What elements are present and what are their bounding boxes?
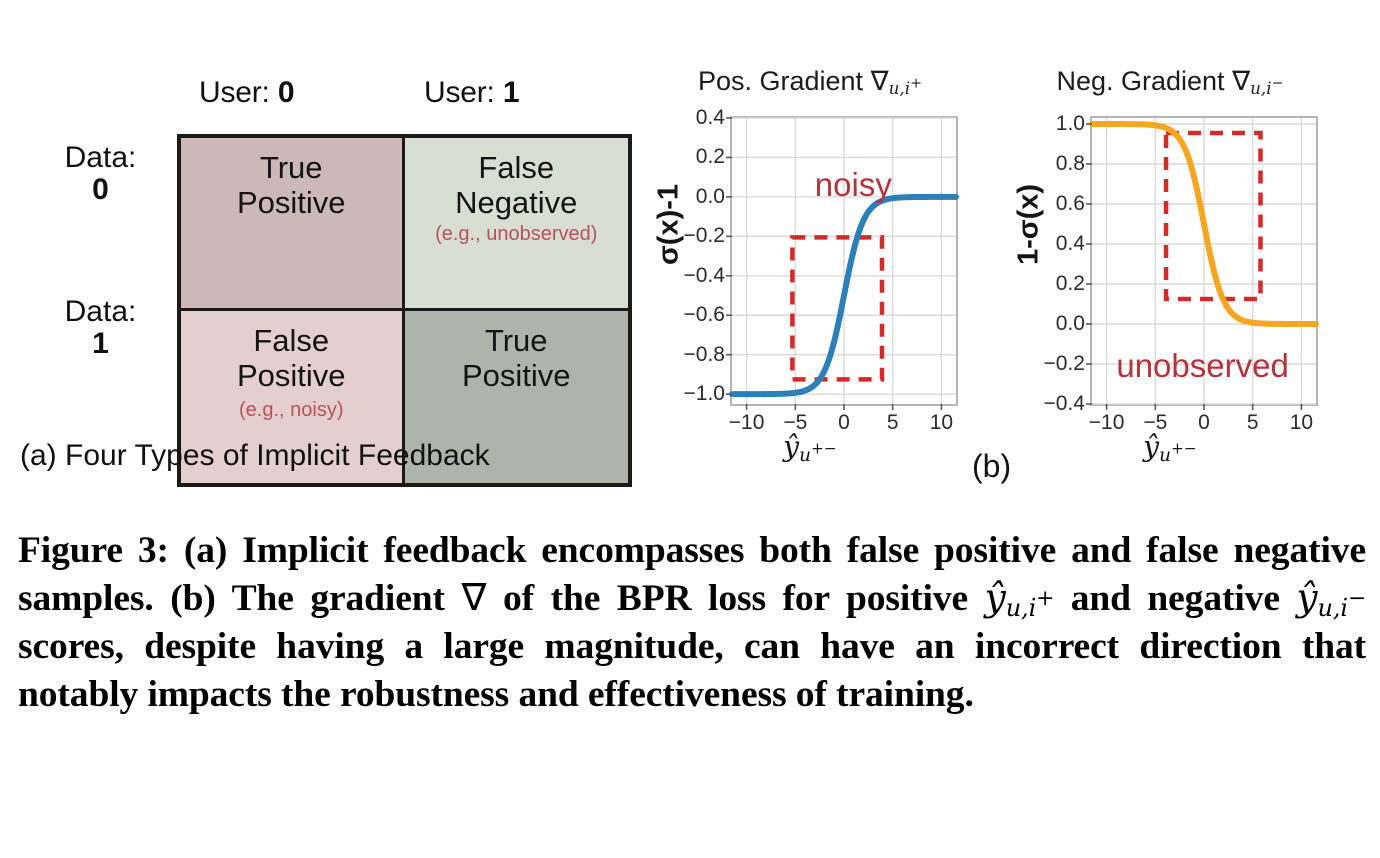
matrix-cell-label: False Negative (455, 150, 577, 221)
y-axis-tick-label: −0.4 (684, 264, 725, 288)
row-header-1-value: 1 (38, 328, 163, 360)
chart-ylabel-pos: σ(x)-1 (653, 130, 686, 320)
matrix-cell-label: True Positive (237, 150, 346, 221)
row-header-1-prefix: Data: (38, 296, 163, 328)
chart-xlabel-neg: ŷu+− (990, 430, 1350, 466)
xlabel-sup: +− (1171, 439, 1197, 457)
matrix-cell-line1: False (478, 150, 554, 185)
chart-title-subscript: u,i (1250, 78, 1271, 98)
column-header-1-prefix: User: (424, 76, 503, 109)
y-axis-tick-label: −0.2 (684, 224, 725, 248)
y-axis-tick-label: −0.2 (1044, 352, 1085, 376)
chart-title-subscript: u,i (889, 78, 910, 98)
matrix-cell-line1: True (485, 323, 548, 358)
chart-xlabel-pos: ŷu+− (630, 430, 990, 466)
chart-title-subscript-sup: − (1272, 76, 1284, 92)
figure-caption: Figure 3: (a) Implicit feedback encompas… (18, 527, 1366, 718)
caption-math-positive-score: ŷu,i+ (985, 575, 1055, 619)
chart-title-neg-gradient: Neg. Gradient ∇u,i− (990, 66, 1350, 98)
caption-math-negative-score: ŷu,i− (1296, 575, 1366, 619)
matrix-cell-line2: Positive (237, 358, 346, 393)
y-axis-tick-label: 0.8 (1056, 152, 1085, 176)
chart-ylabel-neg: 1-σ(x) (1013, 130, 1046, 320)
chart-annotation-unobserved: unobserved (1116, 347, 1288, 385)
panel-b-caption: (b) (972, 448, 1011, 485)
nabla-icon: ∇ (871, 66, 889, 97)
y-axis-tick-label: 0.6 (1056, 192, 1085, 216)
column-header-user-1: User: 1 (424, 76, 519, 110)
caption-part-2: of the BPR loss for positive (503, 578, 968, 619)
y-axis-tick-label: 0.4 (696, 106, 725, 130)
panel-b-gradients: Pos. Gradient ∇u,i+ σ(x)-1 0.40.20.0−0.2… (630, 58, 1380, 508)
matrix-cell-label: False Positive (237, 323, 346, 394)
matrix-cell-line2: Negative (455, 185, 577, 220)
chart-title-text: Pos. Gradient (698, 66, 863, 96)
nabla-icon: ∇ (1232, 66, 1250, 97)
chart-canvas (732, 118, 956, 404)
chart-neg-gradient: Neg. Gradient ∇u,i− 1-σ(x) 1.00.80.60.40… (990, 58, 1350, 508)
y-axis-tick-label: 0.2 (1056, 272, 1085, 296)
y-axis-tick-label: 0.0 (696, 185, 725, 209)
column-header-0-value: 0 (278, 76, 295, 109)
chart-pos-gradient: Pos. Gradient ∇u,i+ σ(x)-1 0.40.20.0−0.2… (630, 58, 990, 508)
plot-area-neg-gradient: 1.00.80.60.40.20.0−0.2−0.4−10−50510unobs… (1090, 116, 1318, 406)
xlabel-base: ŷ (1143, 430, 1159, 463)
y-axis-tick-label: −0.4 (1044, 392, 1085, 416)
y-axis-tick-label: −0.6 (684, 303, 725, 327)
row-header-0-prefix: Data: (38, 142, 163, 174)
xlabel-sub: u (1159, 445, 1171, 466)
xlabel-sup: +− (811, 439, 837, 457)
row-header-0-value: 0 (38, 174, 163, 206)
xlabel-base: ŷ (783, 430, 799, 463)
figure-page: User: 0 User: 1 Data: 0 Data: 1 True Pos… (0, 0, 1380, 858)
matrix-cell-false-negative: False Negative (e.g., unobserved) (405, 138, 629, 311)
matrix-cell-label: True Positive (462, 323, 571, 394)
caption-part-3: and negative (1071, 578, 1280, 619)
y-axis-tick-label: 1.0 (1056, 112, 1085, 136)
chart-title-pos-gradient: Pos. Gradient ∇u,i+ (630, 66, 990, 98)
matrix-cell-subtext: (e.g., unobserved) (435, 223, 597, 246)
matrix-cell-line2: Positive (462, 358, 571, 393)
plot-area-pos-gradient: 0.40.20.0−0.2−0.4−0.6−0.8−1.0−10−50510no… (730, 116, 958, 406)
column-header-1-value: 1 (503, 76, 520, 109)
confusion-matrix: True Positive False Negative (e.g., unob… (177, 134, 632, 487)
y-axis-tick-label: −0.8 (684, 343, 725, 367)
column-header-0-prefix: User: (199, 76, 278, 109)
matrix-cell-subtext: (e.g., noisy) (239, 399, 343, 422)
y-axis-tick-label: −1.0 (684, 382, 725, 406)
chart-annotation-noisy: noisy (815, 166, 892, 204)
chart-title-subscript-sup: + (910, 76, 922, 92)
panel-a-implicit-feedback: User: 0 User: 1 Data: 0 Data: 1 True Pos… (0, 58, 650, 508)
caption-part-4: scores, despite having a large magnitude… (18, 626, 1366, 714)
column-header-user-0: User: 0 (199, 76, 294, 110)
matrix-cell-line1: False (253, 323, 329, 358)
matrix-cell-line2: Positive (237, 185, 346, 220)
highlight-dashed-box (792, 237, 882, 379)
y-axis-tick-label: 0.4 (1056, 232, 1085, 256)
xlabel-sub: u (799, 445, 811, 466)
row-header-data-1: Data: 1 (38, 296, 163, 361)
row-header-data-0: Data: 0 (38, 142, 163, 207)
matrix-cell-true-positive-top: True Positive (181, 138, 405, 311)
chart-title-text: Neg. Gradient (1056, 66, 1224, 96)
matrix-cell-line1: True (260, 150, 323, 185)
y-axis-tick-label: 0.0 (1056, 312, 1085, 336)
nabla-icon: ∇ (461, 575, 486, 619)
y-axis-tick-label: 0.2 (696, 145, 725, 169)
caption-label: Figure 3: (18, 530, 169, 571)
panel-a-caption: (a) Four Types of Implicit Feedback (20, 439, 490, 473)
